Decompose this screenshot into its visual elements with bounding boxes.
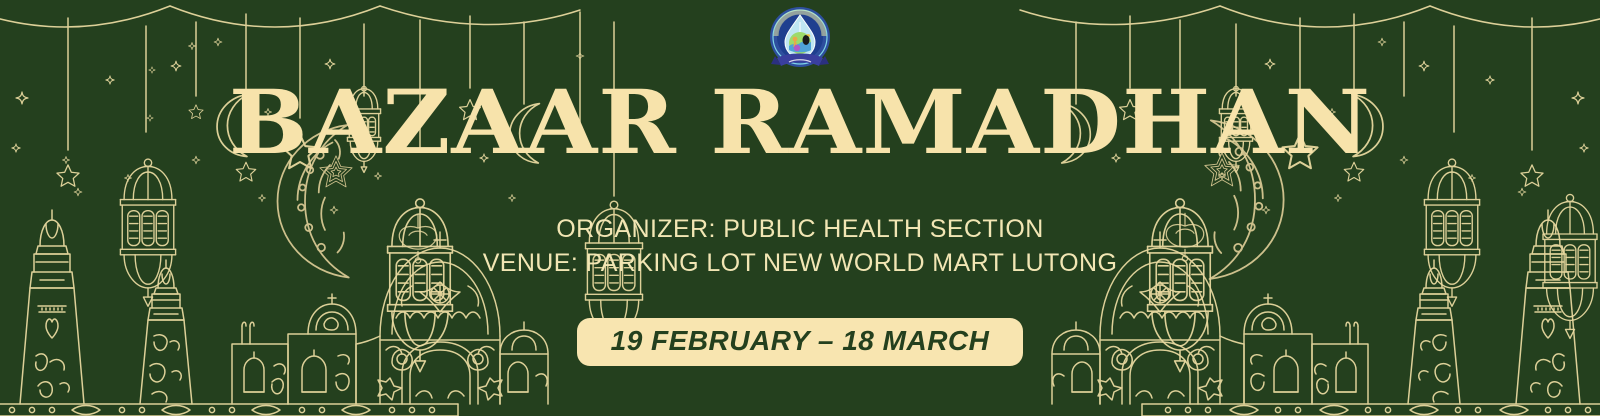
event-details: ORGANIZER: PUBLIC HEALTH SECTION VENUE: … xyxy=(0,212,1600,280)
venue-line: VENUE: PARKING LOT NEW WORLD MART LUTONG xyxy=(0,246,1600,280)
date-range-badge: 19 FEBRUARY – 18 MARCH xyxy=(577,318,1024,366)
date-badge-wrapper: 19 FEBRUARY – 18 MARCH xyxy=(0,318,1600,366)
organizer-line: ORGANIZER: PUBLIC HEALTH SECTION xyxy=(0,212,1600,246)
bazaar-ramadhan-banner: BAZAAR RAMADHAN ORGANIZER: PUBLIC HEALTH… xyxy=(0,0,1600,416)
page-title: BAZAAR RAMADHAN xyxy=(0,76,1600,168)
majlis-bandaraya-miri-logo xyxy=(763,2,837,76)
